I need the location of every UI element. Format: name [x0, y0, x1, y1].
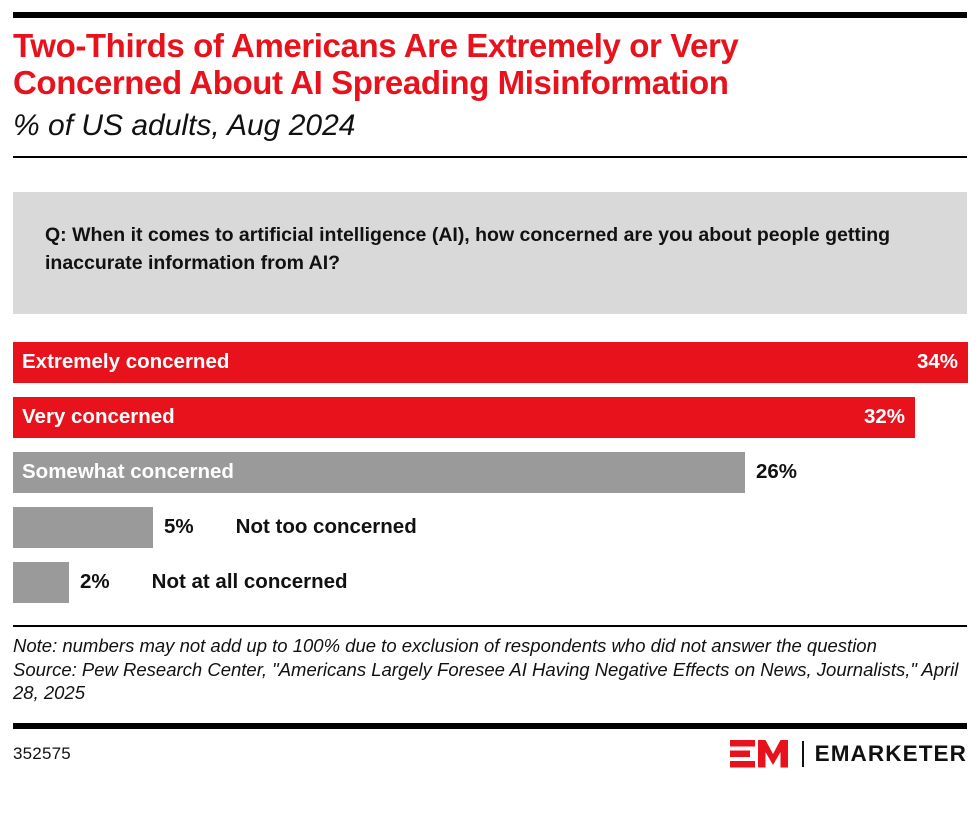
header-bottom-rule: [13, 156, 967, 158]
footer-rule-wrap: [13, 723, 967, 729]
page-subtitle: % of US adults, Aug 2024: [13, 109, 967, 142]
footnotes-rule-wrap: [13, 625, 967, 627]
bar-value: 26%: [756, 462, 797, 483]
bar-row: 2% Not at all concerned: [13, 562, 967, 603]
bar-chart: Extremely concerned 34% Very concerned 3…: [13, 342, 967, 603]
bar-label: Somewhat concerned: [22, 462, 234, 483]
bar-label: Not too concerned: [236, 517, 417, 538]
question-text: Q: When it comes to artificial intellige…: [45, 222, 925, 277]
bar-row: Somewhat concerned 26%: [13, 452, 967, 493]
question-box: Q: When it comes to artificial intellige…: [13, 192, 967, 314]
header-bottom-rule-wrap: [13, 156, 967, 158]
bar-outside-group: 2% Not at all concerned: [69, 562, 348, 603]
bar-not-too-concerned[interactable]: [13, 507, 153, 548]
logo-divider: [802, 741, 804, 767]
footnotes: Note: numbers may not add up to 100% due…: [13, 634, 967, 705]
bar-outside-group: 5% Not too concerned: [153, 507, 417, 548]
bar-very-concerned[interactable]: Very concerned 32%: [13, 397, 915, 438]
footnote-note: Note: numbers may not add up to 100% due…: [13, 634, 967, 658]
emarketer-logo[interactable]: EMARKETER: [730, 739, 967, 769]
footer: 352575 EMARKETER: [13, 739, 967, 769]
bar-label: Very concerned: [22, 407, 175, 428]
bar-value: 34%: [917, 352, 958, 373]
page-title: Two-Thirds of Americans Are Extremely or…: [13, 28, 913, 102]
bar-outside-group: 26%: [745, 452, 797, 493]
header: Two-Thirds of Americans Are Extremely or…: [13, 0, 967, 158]
footnote-source: Source: Pew Research Center, "Americans …: [13, 658, 967, 705]
bar-label: Extremely concerned: [22, 352, 229, 373]
bar-value: 2%: [80, 572, 110, 593]
bar-not-at-all-concerned[interactable]: [13, 562, 69, 603]
em-logo-icon: [730, 739, 792, 769]
bar-somewhat-concerned[interactable]: Somewhat concerned: [13, 452, 745, 493]
bar-extremely-concerned[interactable]: Extremely concerned 34%: [13, 342, 968, 383]
infographic-page: Two-Thirds of Americans Are Extremely or…: [0, 0, 980, 838]
footer-top-rule: [13, 723, 967, 729]
document-id: 352575: [13, 744, 71, 764]
bar-label: Not at all concerned: [152, 572, 348, 593]
bar-value: 5%: [164, 517, 194, 538]
header-top-rule: [13, 12, 967, 18]
bar-row: 5% Not too concerned: [13, 507, 967, 548]
footnotes-top-rule: [13, 625, 967, 627]
logo-wordmark: EMARKETER: [815, 741, 967, 767]
bar-value: 32%: [864, 407, 905, 428]
bar-row: Very concerned 32%: [13, 397, 967, 438]
bar-row: Extremely concerned 34%: [13, 342, 967, 383]
